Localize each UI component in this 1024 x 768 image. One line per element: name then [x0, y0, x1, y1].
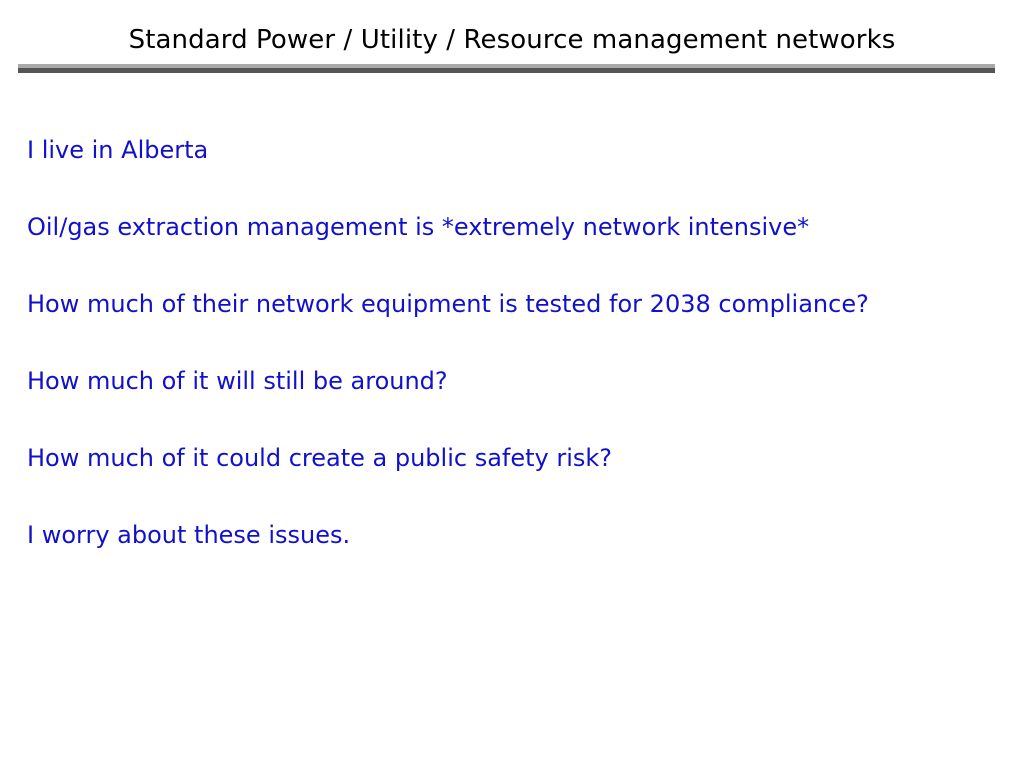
title-divider-rule	[18, 64, 995, 73]
body-line-6: I worry about these issues.	[27, 497, 1007, 574]
body-line-4: How much of it will still be around?	[27, 343, 1007, 420]
body-line-3: How much of their network equipment is t…	[27, 266, 1007, 343]
page-title: Standard Power / Utility / Resource mana…	[0, 24, 1024, 56]
body-line-1: I live in Alberta	[27, 112, 1007, 189]
slide-body: I live in Alberta Oil/gas extraction man…	[27, 112, 1007, 574]
body-line-5: How much of it could create a public saf…	[27, 420, 1007, 497]
body-line-2: Oil/gas extraction management is *extrem…	[27, 189, 1007, 266]
divider-shadow	[18, 68, 995, 73]
presentation-slide: Standard Power / Utility / Resource mana…	[0, 0, 1024, 768]
